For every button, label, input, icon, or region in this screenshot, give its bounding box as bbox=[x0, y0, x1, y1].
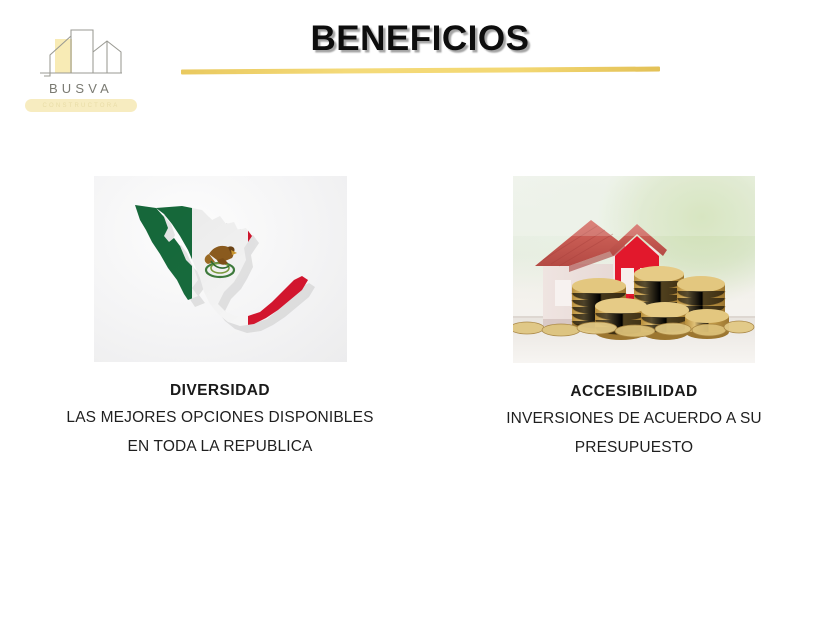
benefit-column-accesibilidad: ACCESIBILIDAD INVERSIONES DE ACUERDO A S… bbox=[452, 176, 816, 462]
benefit-body-line: INVERSIONES DE ACUERDO A SU bbox=[452, 404, 816, 433]
page-title: BENEFICIOS bbox=[170, 19, 670, 59]
benefit-title: DIVERSIDAD bbox=[26, 381, 414, 401]
benefit-body-line: LAS MEJORES OPCIONES DISPONIBLES bbox=[26, 403, 414, 432]
benefit-body: LAS MEJORES OPCIONES DISPONIBLES EN TODA… bbox=[26, 403, 414, 461]
house-and-coins-image bbox=[513, 176, 755, 363]
logo-subtitle: CONSTRUCTORA bbox=[43, 103, 120, 109]
benefit-caption-diversidad: DIVERSIDAD LAS MEJORES OPCIONES DISPONIB… bbox=[26, 381, 414, 461]
benefit-body: INVERSIONES DE ACUERDO A SU PRESUPUESTO bbox=[452, 404, 816, 462]
benefit-column-diversidad: DIVERSIDAD LAS MEJORES OPCIONES DISPONIB… bbox=[26, 176, 414, 461]
benefit-body-line: EN TODA LA REPUBLICA bbox=[26, 432, 414, 461]
slide-canvas: BUSVA CONSTRUCTORA BENEFICIOS bbox=[0, 0, 840, 630]
mexico-map-shape bbox=[94, 176, 347, 362]
benefit-title: ACCESIBILIDAD bbox=[452, 382, 816, 402]
title-underline-rule bbox=[181, 67, 660, 75]
benefit-body-line: PRESUPUESTO bbox=[452, 433, 816, 462]
logo-wordmark: BUSVA bbox=[22, 81, 140, 96]
mexico-map-flag-image bbox=[94, 176, 347, 362]
logo-subtitle-wrap: CONSTRUCTORA bbox=[22, 98, 140, 113]
busva-buildings-mark-icon bbox=[22, 26, 140, 82]
benefit-caption-accesibilidad: ACCESIBILIDAD INVERSIONES DE ACUERDO A S… bbox=[452, 382, 816, 462]
house-and-coins-scene bbox=[513, 176, 755, 363]
busva-logo[interactable]: BUSVA CONSTRUCTORA bbox=[22, 26, 140, 122]
